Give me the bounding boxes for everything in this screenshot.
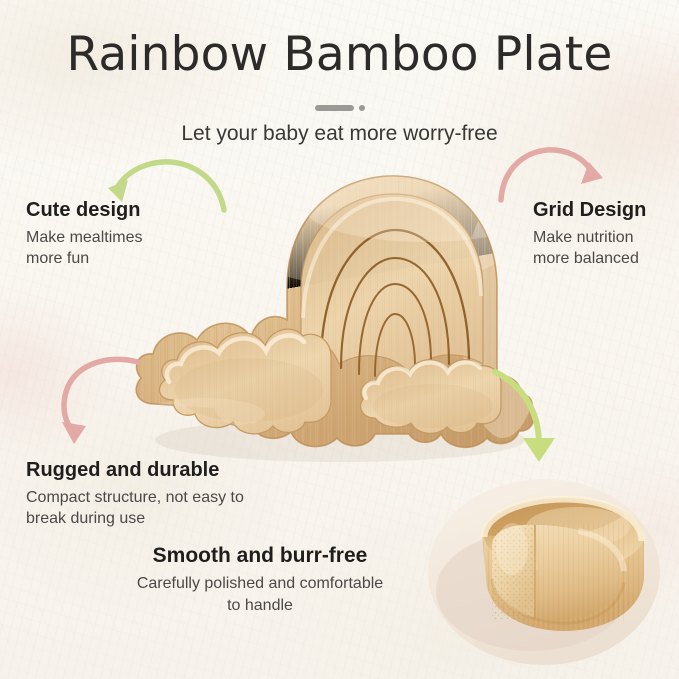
- callout-rugged-and-durable: Rugged and durable Compact structure, no…: [26, 457, 244, 529]
- callout-desc: Make nutrition more balanced: [533, 227, 646, 269]
- callout-desc-line: Make mealtimes: [26, 227, 142, 248]
- callout-desc-line: Carefully polished and comfortable: [95, 573, 425, 595]
- detail-inset-polished-rim-closeup: [428, 479, 660, 665]
- page-title: Rainbow Bamboo Plate: [0, 26, 679, 84]
- callout-desc: Compact structure, not easy to break dur…: [26, 487, 244, 529]
- title-divider: [0, 103, 679, 112]
- callout-desc-line: break during use: [26, 508, 244, 529]
- callout-title: Rugged and durable: [26, 457, 244, 483]
- divider-bar: [315, 105, 354, 111]
- callout-desc-line: more balanced: [533, 248, 646, 269]
- callout-desc: Carefully polished and comfortable to ha…: [95, 573, 425, 617]
- callout-smooth-and-burr-free: Smooth and burr-free Carefully polished …: [95, 543, 425, 617]
- curved-arrow-down-icon: [46, 352, 150, 453]
- callout-desc-line: to handle: [95, 595, 425, 617]
- divider-dot: [359, 105, 365, 111]
- callout-desc-line: Make nutrition: [533, 227, 646, 248]
- curved-arrow-down-right-icon: [493, 138, 611, 209]
- curved-arrow-down-left-icon: [100, 152, 232, 223]
- callout-title: Smooth and burr-free: [95, 543, 425, 569]
- callout-desc-line: more fun: [26, 248, 142, 269]
- curved-arrow-down-icon: [473, 362, 577, 473]
- callout-desc: Make mealtimes more fun: [26, 227, 142, 269]
- callout-desc-line: Compact structure, not easy to: [26, 487, 244, 508]
